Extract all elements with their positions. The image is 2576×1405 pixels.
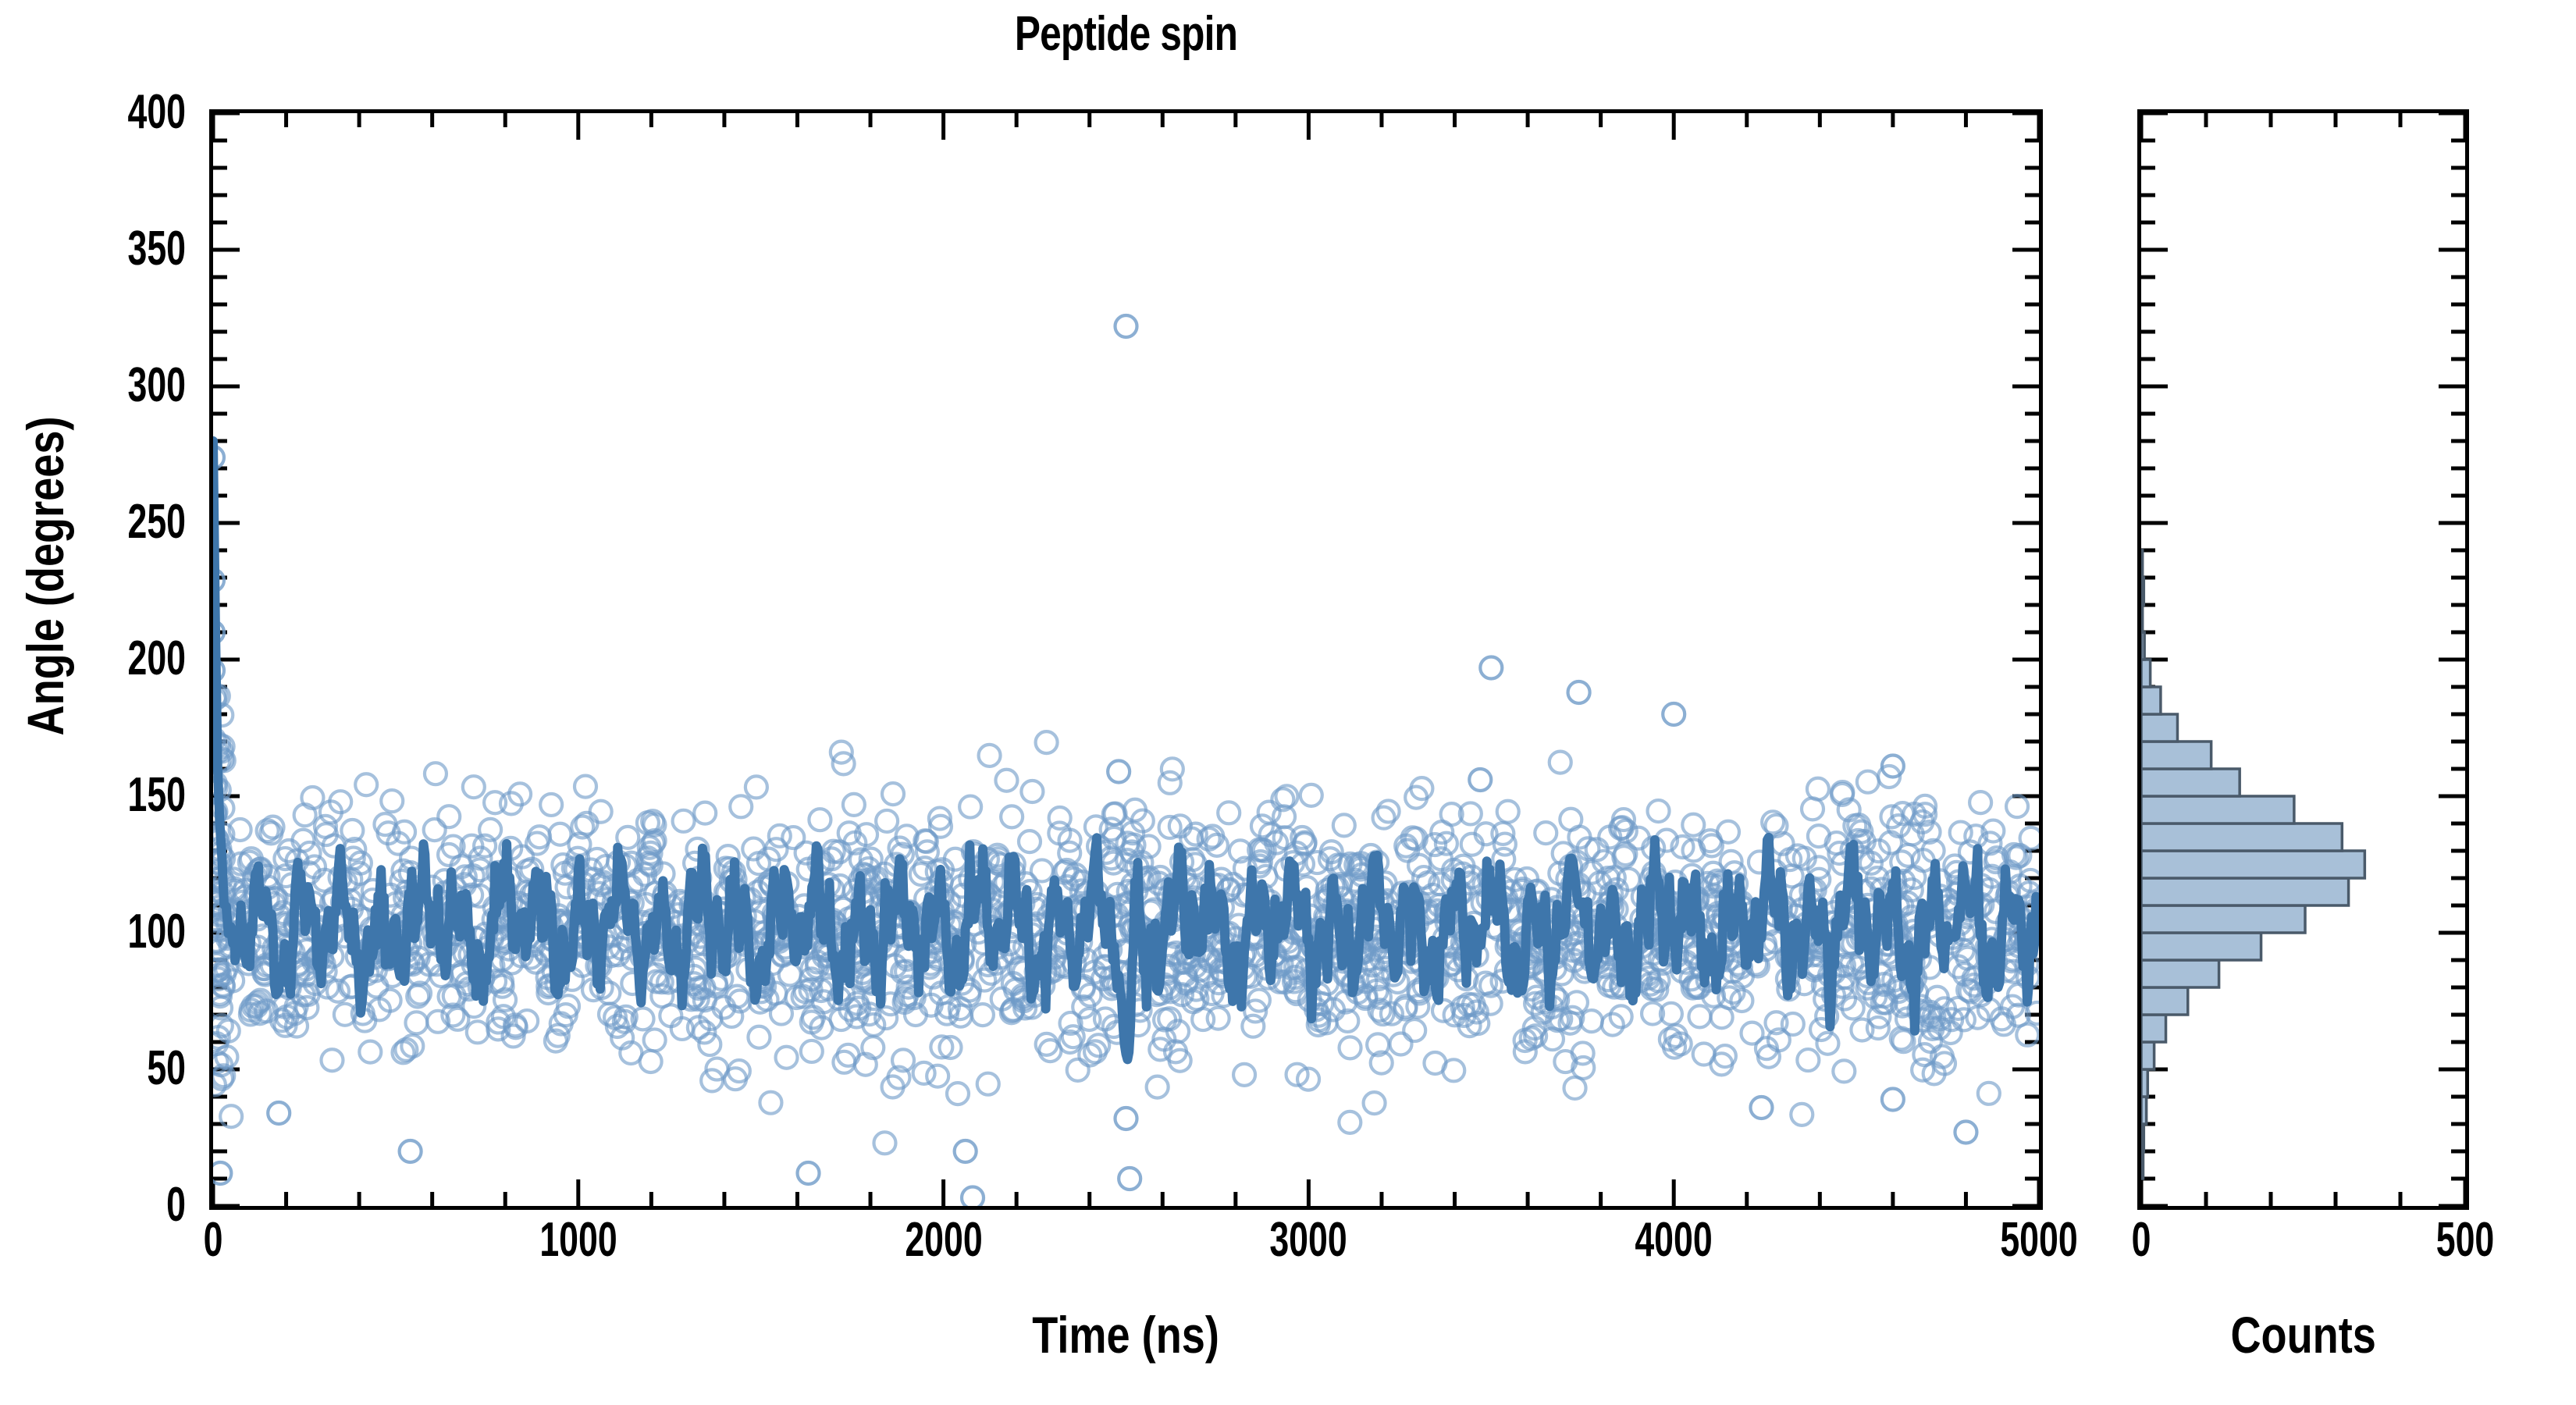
histogram-bar <box>2141 851 2364 878</box>
histogram-bar <box>2141 878 2349 905</box>
histogram-bar <box>2141 742 2211 769</box>
y-tick-label-50: 50 <box>0 1044 186 1093</box>
histogram-bar <box>2141 1015 2166 1042</box>
y-tick-label-350: 350 <box>0 225 186 273</box>
histogram-svg <box>2141 113 2465 1206</box>
x-axis-title-text: Time (ns) <box>1033 1305 1220 1364</box>
histogram-bar <box>2141 578 2144 605</box>
histogram-bar <box>2141 1069 2147 1097</box>
histogram-axis-title: Counts <box>2137 1305 2469 1364</box>
x-tick-label-0: 0 <box>101 1216 326 1264</box>
hist-tick-label-0: 0 <box>2029 1216 2254 1264</box>
x-tick-label-4000: 4000 <box>1561 1216 1786 1264</box>
histogram-bars-layer <box>2141 550 2364 1179</box>
histogram-bar <box>2141 632 2144 660</box>
scatter-points-layer <box>213 315 2039 1206</box>
histogram-bar <box>2141 1151 2143 1179</box>
histogram-bar <box>2141 1124 2144 1151</box>
histogram-bar <box>2141 550 2143 578</box>
y-axis-title: Angle (degrees) <box>16 378 75 774</box>
hist-tick-label-500: 500 <box>2353 1216 2576 1264</box>
histogram-bar <box>2141 687 2161 714</box>
figure-canvas: Peptide spin 050100150200250300350400010… <box>0 0 2576 1405</box>
y-tick-label-100: 100 <box>0 908 186 956</box>
histogram-bar <box>2141 987 2188 1015</box>
histogram-bar <box>2141 933 2261 960</box>
histogram-bar <box>2141 605 2143 632</box>
histogram-bar <box>2141 660 2151 687</box>
histogram-bar <box>2141 1097 2147 1124</box>
main-scatter-panel <box>209 109 2043 1210</box>
histogram-panel <box>2137 109 2469 1210</box>
x-tick-label-1000: 1000 <box>466 1216 691 1264</box>
histogram-bar <box>2141 769 2240 796</box>
histogram-bar <box>2141 1042 2154 1069</box>
y-tick-label-150: 150 <box>0 771 186 820</box>
histogram-axis-title-text: Counts <box>2230 1305 2375 1364</box>
histogram-bar <box>2141 960 2219 987</box>
histogram-bar <box>2141 905 2305 933</box>
histogram-bar <box>2141 796 2294 823</box>
y-tick-label-400: 400 <box>0 88 186 137</box>
x-axis-title: Time (ns) <box>209 1305 2043 1364</box>
x-tick-label-3000: 3000 <box>1196 1216 1421 1264</box>
x-tick-label-2000: 2000 <box>831 1216 1056 1264</box>
histogram-axis-ticks <box>2141 113 2465 1206</box>
chart-title: Peptide spin <box>393 6 1859 62</box>
histogram-bar <box>2141 714 2177 742</box>
scatter-plot-svg <box>213 113 2039 1206</box>
histogram-bar <box>2141 823 2342 851</box>
